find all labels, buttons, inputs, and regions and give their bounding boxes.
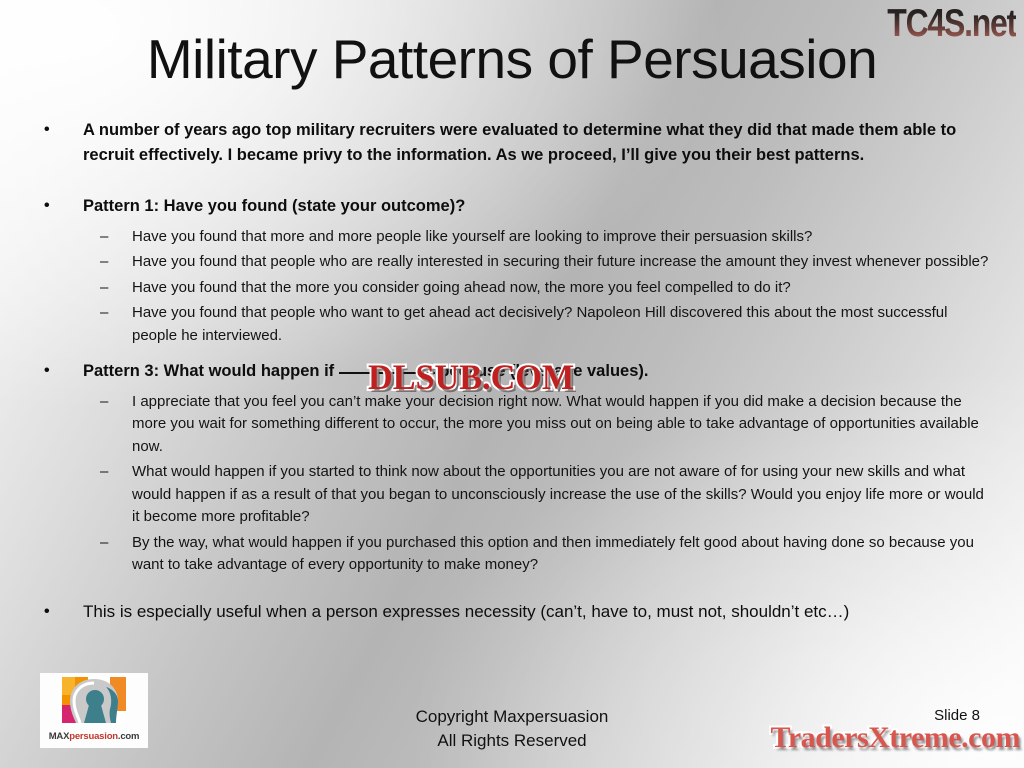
dash-marker-icon: – bbox=[100, 302, 108, 325]
bullet-marker-icon: • bbox=[44, 359, 50, 384]
keyhole-head-icon bbox=[54, 677, 134, 727]
dash-marker-icon: – bbox=[100, 391, 108, 414]
tradersxtreme-watermark: TradersXtreme.com bbox=[771, 720, 1020, 756]
list-item: – What would happen if you started to th… bbox=[34, 461, 990, 529]
bullet-closing: • This is especially useful when a perso… bbox=[34, 600, 990, 625]
bullet-marker-icon: • bbox=[44, 600, 50, 625]
pattern1-heading-text: Pattern 1: Have you found (state your ou… bbox=[83, 197, 465, 215]
list-item: – Have you found that people who are rea… bbox=[34, 251, 990, 274]
list-item-text: Have you found that the more you conside… bbox=[132, 279, 791, 296]
page-title: Military Patterns of Persuasion bbox=[0, 28, 1024, 90]
bullet-marker-icon: • bbox=[44, 194, 50, 219]
logo-word-com: .com bbox=[118, 731, 139, 742]
list-item: – Have you found that people who want to… bbox=[34, 302, 990, 347]
list-item-text: What would happen if you started to thin… bbox=[132, 463, 984, 525]
dash-marker-icon: – bbox=[100, 532, 108, 555]
spacer bbox=[34, 580, 990, 600]
list-item: – Have you found that the more you consi… bbox=[34, 277, 990, 300]
list-item-text: By the way, what would happen if you pur… bbox=[132, 534, 974, 574]
dash-marker-icon: – bbox=[100, 226, 108, 249]
dlsub-watermark: DLSUB.COM bbox=[368, 357, 574, 397]
pattern3-heading-before: Pattern 3: What would happen if bbox=[83, 362, 339, 380]
logo-word-max: MAX bbox=[49, 731, 70, 742]
maxpersuasion-logo: MAXpersuasion.com bbox=[40, 673, 148, 748]
list-item-text: Have you found that people who are reall… bbox=[132, 253, 988, 270]
slide-canvas: Military Patterns of Persuasion TC4S.net… bbox=[0, 0, 1024, 768]
tc4s-watermark: TC4S.net bbox=[887, 2, 1016, 46]
maxpersuasion-wordmark: MAXpersuasion.com bbox=[40, 731, 148, 742]
list-item: – By the way, what would happen if you p… bbox=[34, 532, 990, 577]
bullet-pattern1-heading: • Pattern 1: Have you found (state your … bbox=[34, 194, 990, 219]
dash-marker-icon: – bbox=[100, 251, 108, 274]
dash-marker-icon: – bbox=[100, 277, 108, 300]
spacer bbox=[34, 174, 990, 194]
bullet-marker-icon: • bbox=[44, 118, 50, 143]
list-item: – I appreciate that you feel you can’t m… bbox=[34, 391, 990, 459]
dash-marker-icon: – bbox=[100, 461, 108, 484]
list-item-text: Have you found that people who want to g… bbox=[132, 304, 948, 344]
list-item: – Have you found that more and more peop… bbox=[34, 226, 990, 249]
list-item-text: I appreciate that you feel you can’t mak… bbox=[132, 393, 979, 455]
list-item-text: Have you found that more and more people… bbox=[132, 228, 812, 245]
bullet-intro: • A number of years ago top military rec… bbox=[34, 118, 990, 167]
logo-word-persuasion: persuasion bbox=[69, 731, 118, 742]
bullet-closing-text: This is especially useful when a person … bbox=[83, 602, 849, 621]
bullet-intro-text: A number of years ago top military recru… bbox=[83, 121, 956, 164]
